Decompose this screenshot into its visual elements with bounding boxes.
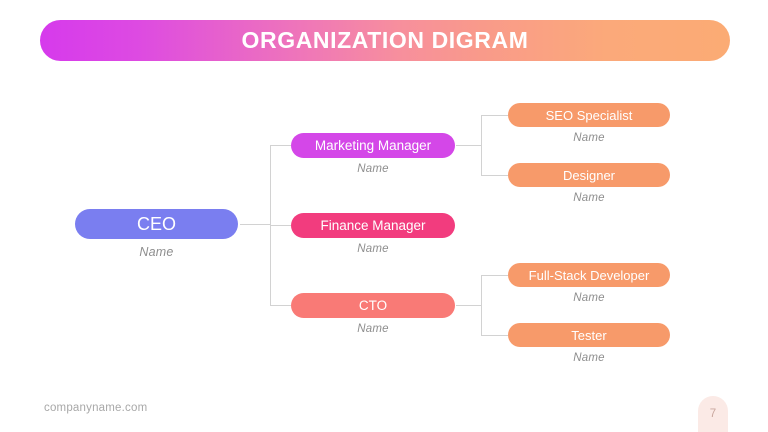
- connector-cto-fullstack: [481, 275, 508, 276]
- connector-ceo-finance: [270, 225, 291, 226]
- node-cto-pill[interactable]: CTO: [291, 293, 455, 318]
- page-number-tab: 7: [698, 396, 728, 432]
- node-full-stack-developer-pill[interactable]: Full-Stack Developer: [508, 263, 670, 287]
- node-finance-manager-label: Finance Manager: [320, 218, 425, 233]
- connector-marketing-seo: [481, 115, 508, 116]
- node-tester-caption: Name: [573, 352, 604, 364]
- connector-ceo-stub: [240, 224, 270, 225]
- node-cto-caption: Name: [357, 323, 388, 335]
- node-full-stack-developer-label: Full-Stack Developer: [529, 268, 650, 283]
- node-designer-caption: Name: [573, 192, 604, 204]
- node-tester[interactable]: Tester Name: [508, 323, 670, 364]
- node-ceo-caption: Name: [139, 245, 173, 259]
- connector-marketing-designer: [481, 175, 508, 176]
- node-ceo-pill[interactable]: CEO: [75, 209, 238, 239]
- node-designer-label: Designer: [563, 168, 615, 183]
- connector-ceo-cto: [270, 305, 291, 306]
- node-cto[interactable]: CTO Name: [291, 293, 455, 335]
- node-full-stack-developer[interactable]: Full-Stack Developer Name: [508, 263, 670, 304]
- node-tester-pill[interactable]: Tester: [508, 323, 670, 347]
- node-seo-specialist[interactable]: SEO Specialist Name: [508, 103, 670, 144]
- node-designer[interactable]: Designer Name: [508, 163, 670, 204]
- page-number: 7: [710, 408, 716, 420]
- node-seo-specialist-caption: Name: [573, 132, 604, 144]
- organization-chart: CEO Name Marketing Manager Name Finance …: [0, 0, 768, 432]
- node-full-stack-developer-caption: Name: [573, 292, 604, 304]
- node-seo-specialist-pill[interactable]: SEO Specialist: [508, 103, 670, 127]
- node-ceo-label: CEO: [137, 214, 176, 235]
- connector-cto-trunk: [481, 275, 482, 335]
- connector-cto-stub: [456, 305, 481, 306]
- node-ceo[interactable]: CEO Name: [75, 209, 238, 259]
- connector-marketing-trunk: [481, 115, 482, 175]
- connector-marketing-stub: [456, 145, 481, 146]
- node-marketing-manager-caption: Name: [357, 163, 388, 175]
- node-designer-pill[interactable]: Designer: [508, 163, 670, 187]
- node-marketing-manager[interactable]: Marketing Manager Name: [291, 133, 455, 175]
- footer-website[interactable]: companyname.com: [44, 402, 147, 414]
- node-cto-label: CTO: [359, 298, 387, 313]
- connector-cto-tester: [481, 335, 508, 336]
- node-tester-label: Tester: [571, 328, 606, 343]
- node-seo-specialist-label: SEO Specialist: [546, 108, 633, 123]
- node-finance-manager[interactable]: Finance Manager Name: [291, 213, 455, 255]
- node-marketing-manager-pill[interactable]: Marketing Manager: [291, 133, 455, 158]
- connector-ceo-marketing: [270, 145, 291, 146]
- node-marketing-manager-label: Marketing Manager: [315, 138, 431, 153]
- node-finance-manager-caption: Name: [357, 243, 388, 255]
- node-finance-manager-pill[interactable]: Finance Manager: [291, 213, 455, 238]
